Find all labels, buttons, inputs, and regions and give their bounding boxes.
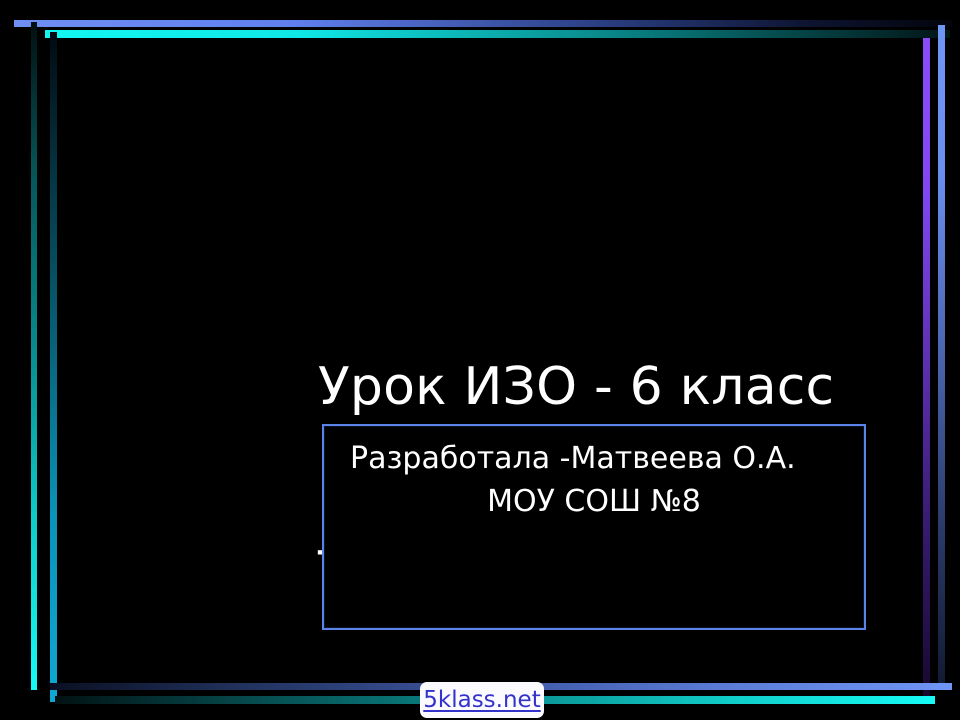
border-bar-right-purple	[923, 38, 930, 700]
border-bar-left-blue	[50, 32, 57, 702]
border-bar-top-cyan	[45, 30, 950, 38]
school-name-line: МОУ СОШ №8	[324, 481, 864, 524]
border-bar-left-cyan	[31, 22, 37, 690]
author-info-box: Разработала -Матвеева О.А. МОУ СОШ №8	[322, 424, 866, 630]
border-bar-top-blue	[14, 20, 952, 27]
watermark-link-text[interactable]: 5klass.net	[423, 687, 540, 713]
presentation-slide: Урок ИЗО - 6 класс Тема «Портрет». Разра…	[0, 0, 960, 720]
border-bar-right-blue	[938, 25, 945, 690]
watermark-badge[interactable]: 5klass.net	[420, 682, 544, 718]
author-name-line: Разработала -Матвеева О.А.	[324, 426, 864, 481]
slide-title-line-1: Урок ИЗО - 6 класс	[318, 357, 918, 418]
